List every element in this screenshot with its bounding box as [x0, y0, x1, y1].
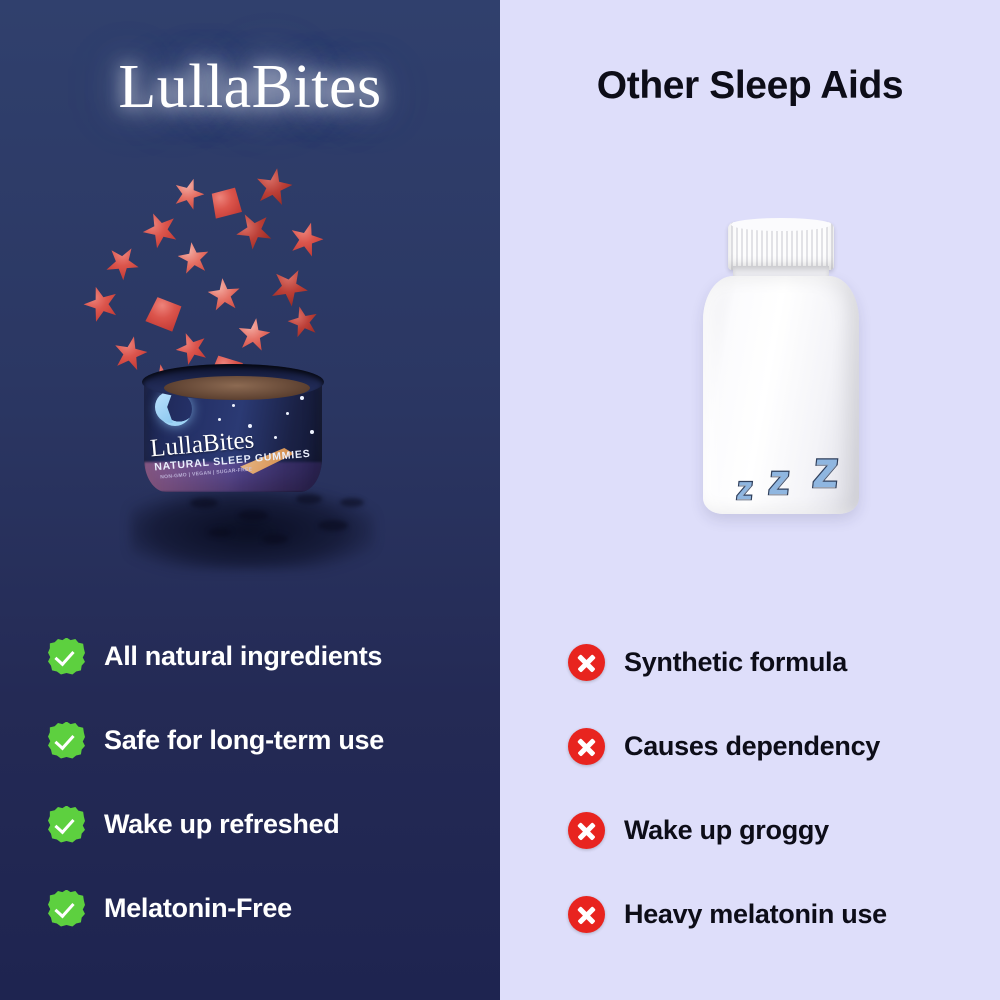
product-jar: LullaBites NATURAL SLEEP GUMMIES NON-GMO… — [138, 358, 328, 498]
benefit-row: All natural ingredients — [48, 614, 488, 698]
gummy-star — [206, 276, 241, 311]
check-badge-icon — [48, 722, 85, 759]
benefit-label: Safe for long-term use — [104, 725, 384, 756]
x-circle-icon — [568, 896, 605, 933]
drawback-row: Heavy melatonin use — [568, 872, 988, 956]
star-icon — [218, 418, 221, 421]
gummy-star — [285, 303, 321, 339]
drawback-label: Synthetic formula — [624, 647, 847, 678]
z-glyph: z — [735, 470, 755, 507]
gummy-star — [80, 282, 123, 325]
bottle-cap — [728, 222, 834, 270]
drawback-label: Wake up groggy — [624, 815, 829, 846]
comparison-infographic: LullaBites — [0, 0, 1000, 1000]
drawback-label: Causes dependency — [624, 731, 880, 762]
gummy-shadow-spot — [190, 498, 218, 508]
check-badge-icon — [48, 890, 85, 927]
check-badge-icon — [48, 638, 85, 675]
gummy-star — [143, 293, 185, 335]
drawback-label: Heavy melatonin use — [624, 899, 887, 930]
z-glyph: z — [766, 456, 792, 504]
drawback-row: Causes dependency — [568, 704, 988, 788]
gummy-star — [170, 174, 208, 212]
right-panel-other-sleep-aids: Other Sleep Aids z z z Synthetic formula… — [500, 0, 1000, 1000]
x-circle-icon — [568, 644, 605, 681]
benefit-label: All natural ingredients — [104, 641, 382, 672]
benefit-row: Wake up refreshed — [48, 782, 488, 866]
drawback-row: Synthetic formula — [568, 620, 988, 704]
brand-title: LullaBites — [0, 52, 500, 123]
gummy-shadow-spot — [318, 520, 348, 531]
left-panel-lullabites: LullaBites — [0, 0, 500, 1000]
star-icon — [300, 396, 304, 400]
gummy-star — [138, 207, 183, 252]
drawbacks-list: Synthetic formula Causes dependency Wake… — [568, 620, 988, 956]
gummy-shadow-spot — [340, 498, 364, 507]
benefits-list: All natural ingredients Safe for long-te… — [48, 614, 488, 950]
jar-rim — [142, 364, 324, 400]
gummy-shadow-spot — [208, 528, 232, 537]
gummy-star — [286, 218, 327, 259]
gummy-shadow-spot — [262, 534, 288, 544]
bottle-body: z z z — [703, 276, 859, 514]
gummy-shadow-spot — [238, 510, 268, 521]
page-title: Other Sleep Aids — [500, 64, 1000, 108]
star-icon — [286, 412, 289, 415]
benefit-label: Melatonin-Free — [104, 893, 292, 924]
x-circle-icon — [568, 812, 605, 849]
x-circle-icon — [568, 728, 605, 765]
drawback-row: Wake up groggy — [568, 788, 988, 872]
z-glyph: z — [810, 440, 842, 500]
gummy-star — [253, 165, 295, 207]
gummy-star — [208, 185, 244, 221]
check-badge-icon — [48, 806, 85, 843]
jar-opening — [164, 376, 310, 400]
gummy-star — [266, 262, 315, 311]
benefit-label: Wake up refreshed — [104, 809, 339, 840]
gummy-star — [236, 316, 272, 352]
star-icon — [232, 404, 235, 407]
pill-bottle: z z z — [697, 222, 865, 514]
gummy-star — [101, 240, 145, 284]
benefit-row: Safe for long-term use — [48, 698, 488, 782]
gummy-star — [176, 240, 211, 275]
benefit-row: Melatonin-Free — [48, 866, 488, 950]
sleep-zzz-icon: z z z — [737, 444, 867, 510]
